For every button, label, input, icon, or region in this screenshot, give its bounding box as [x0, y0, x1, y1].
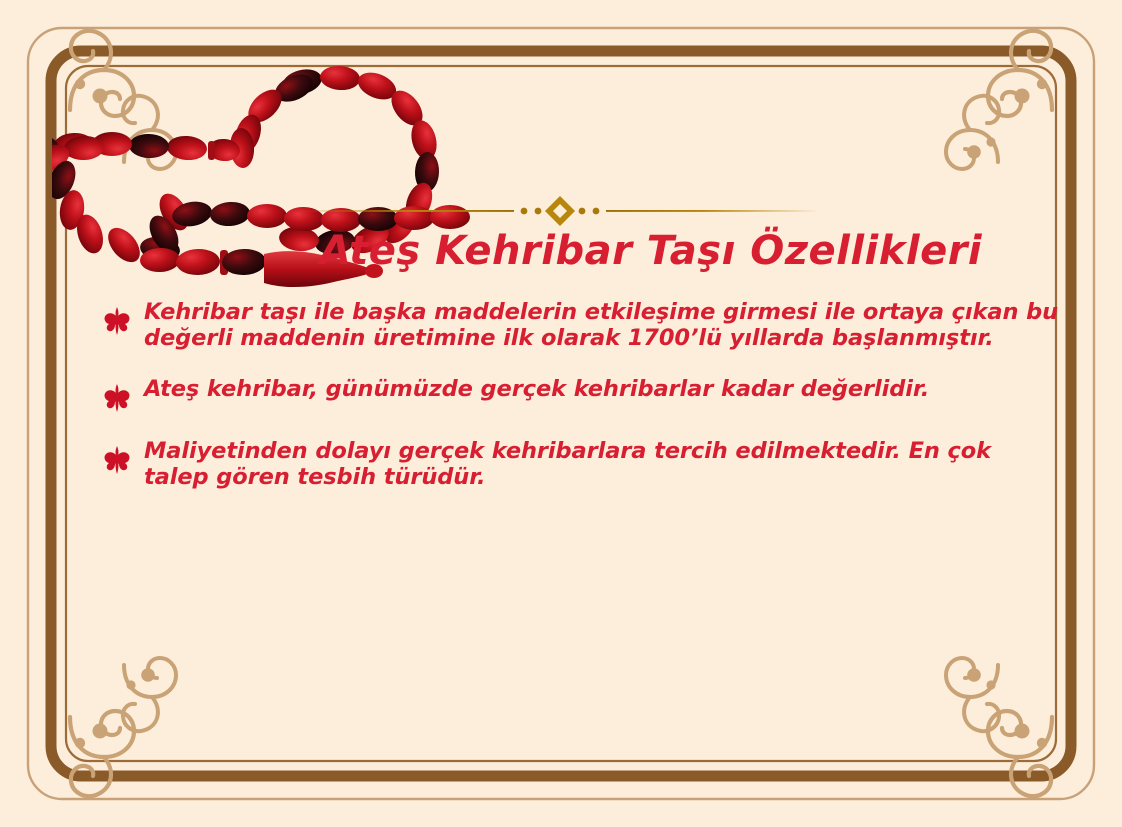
list-item-text: Maliyetinden dolayı gerçek kehribarlara … — [134, 439, 1060, 490]
ornamental-divider — [300, 196, 820, 226]
features-list: Kehribar taşı ile başka maddelerin etkil… — [100, 300, 1060, 517]
info-card: Ateş Kehribar Taşı Özellikleri Kehribar … — [0, 0, 1122, 827]
amber-prayer-beads — [52, 62, 472, 312]
list-item-text: Ateş kehribar, günümüzde gerçek kehribar… — [134, 377, 1060, 403]
list-item: Ateş kehribar, günümüzde gerçek kehribar… — [100, 377, 1060, 413]
fleur-de-lis-icon — [100, 383, 134, 413]
list-item: Kehribar taşı ile başka maddelerin etkil… — [100, 300, 1060, 351]
page-title: Ateş Kehribar Taşı Özellikleri — [0, 228, 1122, 274]
list-item-text: Kehribar taşı ile başka maddelerin etkil… — [134, 300, 1060, 351]
list-item: Maliyetinden dolayı gerçek kehribarlara … — [100, 439, 1060, 490]
fleur-de-lis-icon — [100, 306, 134, 336]
fleur-de-lis-icon — [100, 445, 134, 475]
